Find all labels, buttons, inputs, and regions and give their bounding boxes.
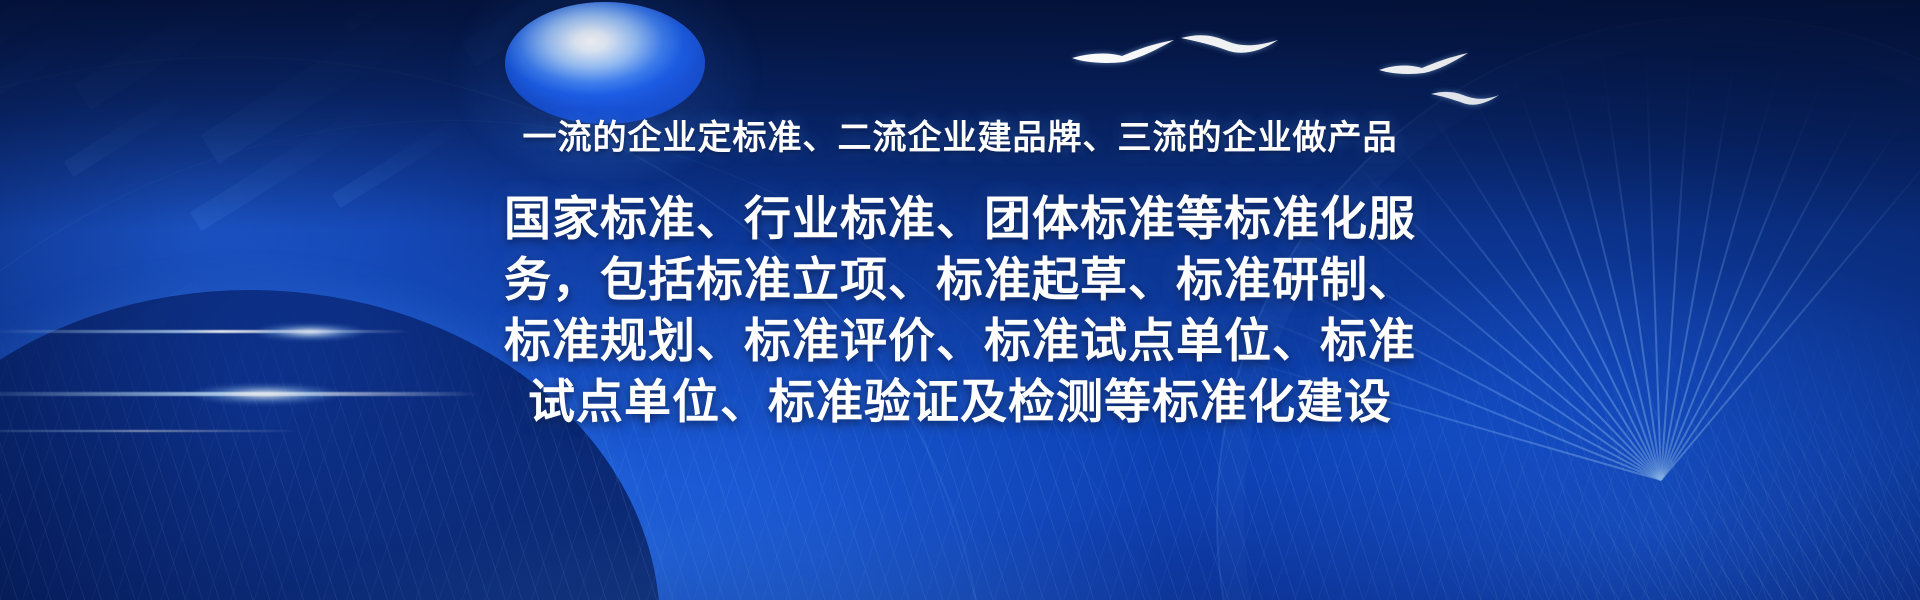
banner-body-line-4: 试点单位、标准验证及检测等标准化建设 xyxy=(440,371,1480,432)
banner-headline: 一流的企业定标准、二流企业建品牌、三流的企业做产品 xyxy=(523,118,1398,158)
banner-body-line-1: 国家标准、行业标准、团体标准等标准化服 xyxy=(440,188,1480,249)
banner-body-line-2: 务，包括标准立项、标准起草、标准研制、 xyxy=(440,249,1480,310)
banner-body-line-3: 标准规划、标准评价、标准试点单位、标准 xyxy=(440,310,1480,371)
banner-content: 一流的企业定标准、二流企业建品牌、三流的企业做产品 国家标准、行业标准、团体标准… xyxy=(0,0,1920,600)
promo-banner: 一流的企业定标准、二流企业建品牌、三流的企业做产品 国家标准、行业标准、团体标准… xyxy=(0,0,1920,600)
banner-body: 国家标准、行业标准、团体标准等标准化服 务，包括标准立项、标准起草、标准研制、 … xyxy=(440,188,1480,432)
